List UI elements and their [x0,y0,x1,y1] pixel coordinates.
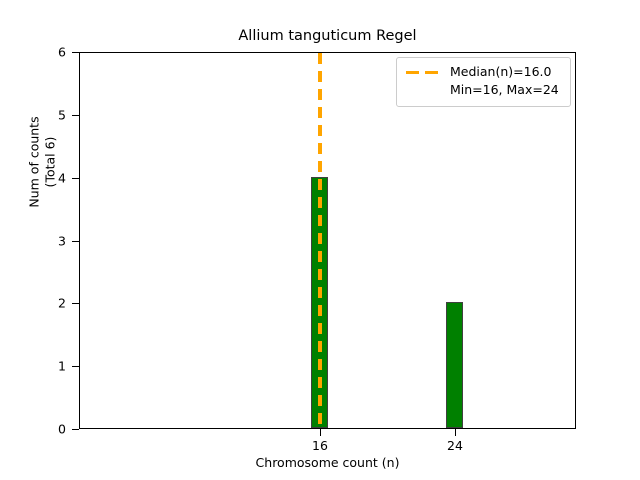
y-tick-label: 1 [6,359,66,374]
median-line [318,53,322,428]
y-tick-mark [72,115,79,116]
x-axis-label: Chromosome count (n) [79,455,576,470]
y-axis-label-line2: (Total 6) [43,137,59,188]
y-tick-mark [72,178,79,179]
y-tick-mark [72,303,79,304]
dashed-line-icon [405,66,441,78]
y-tick-mark [72,366,79,367]
plot-inner [80,53,575,428]
legend-label-minmax: Min=16, Max=24 [450,82,559,99]
plot-area [79,52,576,429]
y-tick-label: 0 [6,422,66,437]
x-tick-mark [320,429,321,436]
x-tick-label: 16 [290,438,350,453]
y-axis-label: Num of counts (Total 6) [25,0,61,351]
y-tick-mark [72,429,79,430]
y-tick-mark [72,52,79,53]
chart-title: Allium tanguticum Regel [79,28,576,44]
legend-label-median: Median(n)=16.0 [450,64,551,81]
bar-24 [446,302,463,428]
chart-figure: Allium tanguticum Regel 6 5 4 3 2 1 0 Nu… [0,0,640,480]
legend-entry-minmax: Min=16, Max=24 [405,82,562,99]
chart-legend: Median(n)=16.0 Min=16, Max=24 [396,57,571,107]
x-tick-label: 24 [425,438,485,453]
x-tick-mark [455,429,456,436]
legend-entry-median: Median(n)=16.0 [405,64,562,81]
y-tick-mark [72,241,79,242]
y-axis-label-line1: Num of counts [27,116,43,207]
